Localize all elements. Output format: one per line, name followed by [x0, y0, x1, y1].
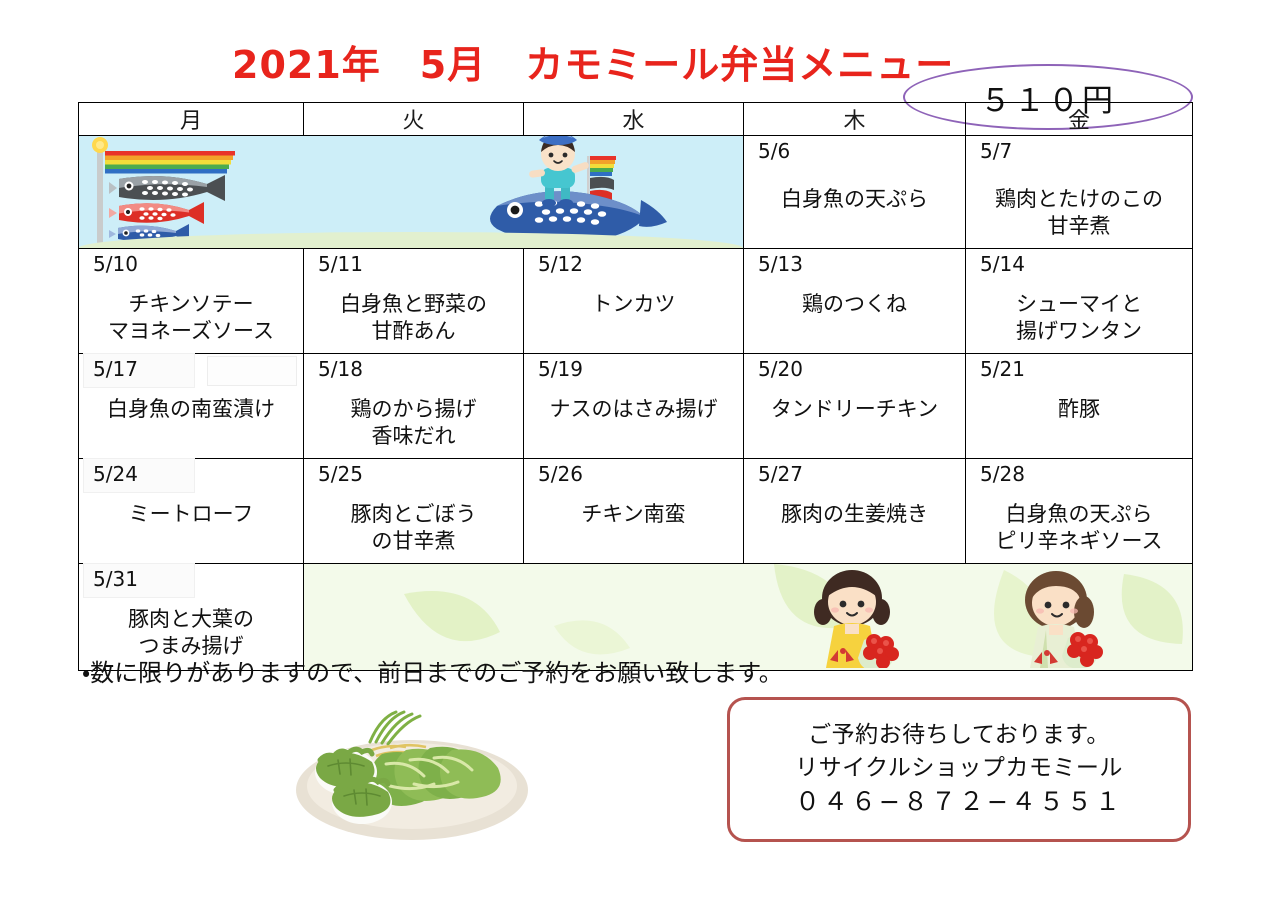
wagashi-plate-svg	[286, 698, 538, 848]
day-cell: 5/13 鶏のつくね	[744, 249, 966, 354]
menu-text: 豚肉とごぼう の甘辛煮	[304, 501, 523, 556]
day-cell: 5/20 タンドリーチキン	[744, 354, 966, 459]
date-label: 5/18	[318, 359, 363, 379]
menu-text: ミートローフ	[79, 501, 303, 528]
page-title: 2021年 5月 カモミール弁当メニュー	[232, 34, 954, 89]
menu-text: 白身魚の天ぷら	[744, 186, 965, 213]
weekday-header-tue: 火	[304, 103, 524, 136]
day-cell: 5/18 鶏のから揚げ 香味だれ	[304, 354, 524, 459]
menu-text: 豚肉と大葉の つまみ揚げ	[79, 606, 303, 661]
date-label: 5/10	[93, 254, 138, 274]
title-bar: 2021年 5月 カモミール弁当メニュー ５１０円	[0, 34, 1280, 90]
day-cell: 5/25 豚肉とごぼう の甘辛煮	[304, 459, 524, 564]
day-cell: 5/12 トンカツ	[524, 249, 744, 354]
menu-text: タンドリーチキン	[744, 396, 965, 423]
empty-textbox-artifact	[207, 356, 297, 386]
date-label: 5/31	[93, 569, 138, 589]
date-label: 5/27	[758, 464, 803, 484]
contact-line-2: リサイクルショップカモミール	[795, 752, 1123, 785]
date-label: 5/6	[758, 141, 790, 161]
table-row: 5/10 チキンソテー マヨネーズソース 5/11 白身魚と野菜の 甘酢あん 5…	[79, 249, 1193, 354]
menu-text: チキンソテー マヨネーズソース	[79, 291, 303, 346]
date-label: 5/11	[318, 254, 363, 274]
menu-text: 豚肉の生姜焼き	[744, 501, 965, 528]
day-cell: 5/11 白身魚と野菜の 甘酢あん	[304, 249, 524, 354]
contact-phone: ０４６−８７２−４５５１	[795, 784, 1123, 820]
menu-text: 白身魚の南蛮漬け	[79, 396, 303, 423]
day-cell: 5/21 酢豚	[966, 354, 1193, 459]
day-cell: 5/6 白身魚の天ぷら	[744, 136, 966, 249]
contact-line-1: ご予約お待ちしております。	[808, 719, 1110, 752]
date-label: 5/20	[758, 359, 803, 379]
koinobori-illustration	[79, 136, 744, 249]
koinobori-art-svg	[79, 136, 744, 246]
day-cell: 5/7 鶏肉とたけのこの 甘辛煮	[966, 136, 1193, 249]
table-row: 5/24 ミートローフ 5/25 豚肉とごぼう の甘辛煮 5/26 チキン南蛮 …	[79, 459, 1193, 564]
menu-text: 白身魚と野菜の 甘酢あん	[304, 291, 523, 346]
date-label: 5/24	[93, 464, 138, 484]
table-row: 5/17 白身魚の南蛮漬け 5/18 鶏のから揚げ 香味だれ 5/19 ナスのは…	[79, 354, 1193, 459]
date-label: 5/13	[758, 254, 803, 274]
menu-text: 鶏のから揚げ 香味だれ	[304, 396, 523, 451]
date-label: 5/17	[93, 359, 138, 379]
menu-calendar-table: 月 火 水 木 金	[78, 102, 1193, 671]
day-cell: 5/19 ナスのはさみ揚げ	[524, 354, 744, 459]
menu-text: 白身魚の天ぷら ピリ辛ネギソース	[966, 501, 1192, 556]
date-label: 5/19	[538, 359, 583, 379]
date-label: 5/7	[980, 141, 1012, 161]
date-label: 5/21	[980, 359, 1025, 379]
day-cell: 5/26 チキン南蛮	[524, 459, 744, 564]
menu-text: ナスのはさみ揚げ	[524, 396, 743, 423]
menu-text: チキン南蛮	[524, 501, 743, 528]
reservation-contact-box: ご予約お待ちしております。 リサイクルショップカモミール ０４６−８７２−４５５…	[727, 697, 1191, 842]
table-row: 5/6 白身魚の天ぷら 5/7 鶏肉とたけのこの 甘辛煮	[79, 136, 1193, 249]
kashiwamochi-chimaki-plate-illustration	[286, 698, 538, 848]
weekday-header-thu: 木	[744, 103, 966, 136]
day-cell: 5/14 シューマイと 揚げワンタン	[966, 249, 1193, 354]
weekday-header-fri: 金	[966, 103, 1193, 136]
date-label: 5/26	[538, 464, 583, 484]
day-cell: 5/28 白身魚の天ぷら ピリ辛ネギソース	[966, 459, 1193, 564]
day-cell: 5/27 豚肉の生姜焼き	[744, 459, 966, 564]
menu-text: 鶏のつくね	[744, 291, 965, 318]
day-cell: 5/17 白身魚の南蛮漬け	[79, 354, 304, 459]
weekday-header-mon: 月	[79, 103, 304, 136]
day-cell: 5/10 チキンソテー マヨネーズソース	[79, 249, 304, 354]
date-label: 5/28	[980, 464, 1025, 484]
day-cell: 5/24 ミートローフ	[79, 459, 304, 564]
menu-text: 酢豚	[966, 396, 1192, 423]
date-label: 5/14	[980, 254, 1025, 274]
date-label: 5/25	[318, 464, 363, 484]
date-label: 5/12	[538, 254, 583, 274]
weekday-header-row: 月 火 水 木 金	[79, 103, 1193, 136]
menu-text: シューマイと 揚げワンタン	[966, 291, 1192, 346]
menu-text: 鶏肉とたけのこの 甘辛煮	[966, 186, 1192, 241]
day-cell: 5/31 豚肉と大葉の つまみ揚げ	[79, 564, 304, 671]
menu-text: トンカツ	[524, 291, 743, 318]
weekday-header-wed: 水	[524, 103, 744, 136]
